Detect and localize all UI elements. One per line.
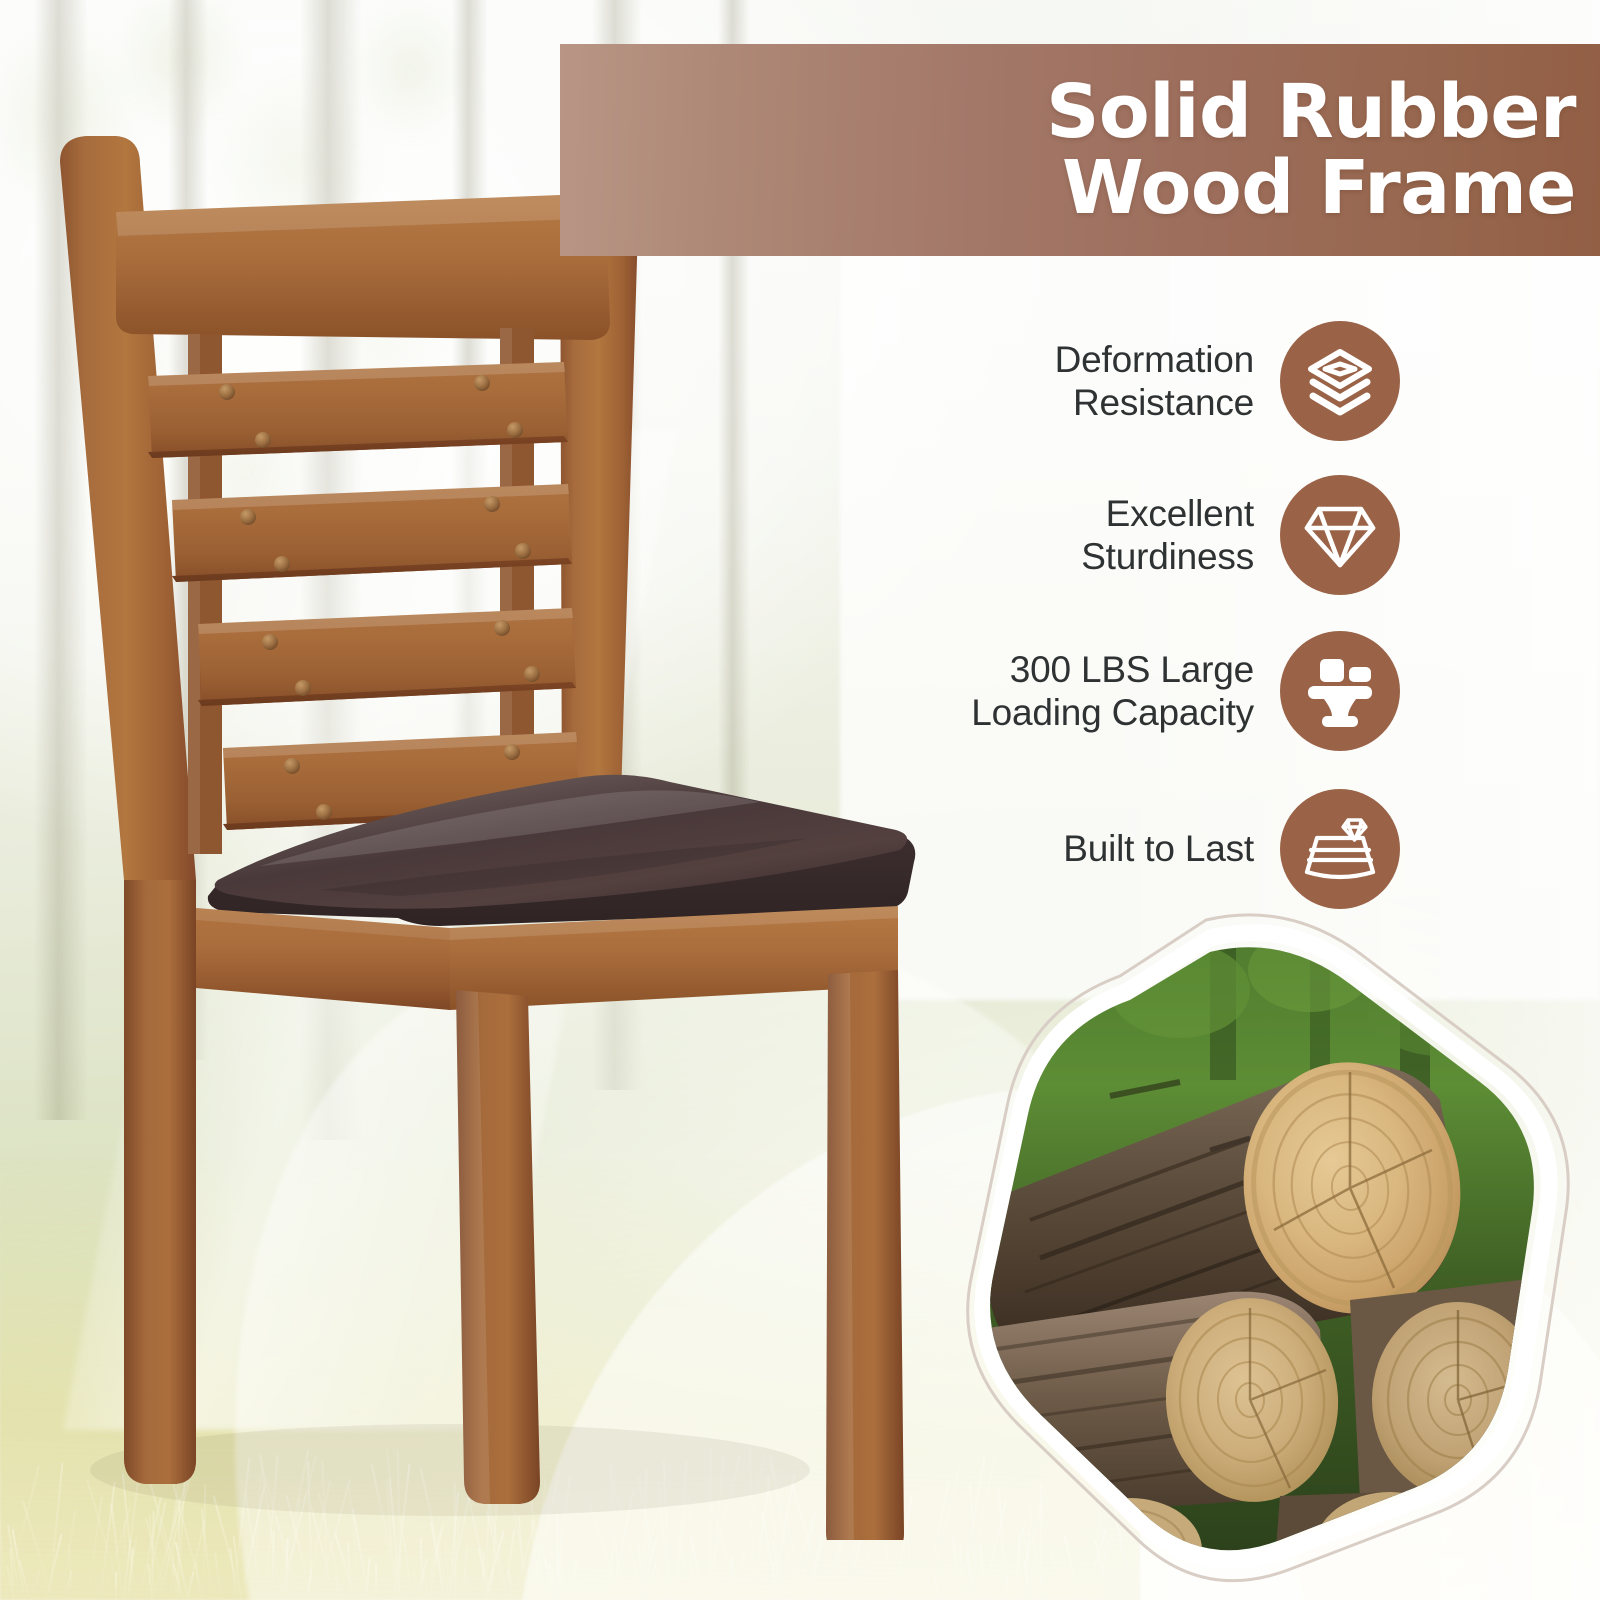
- page-title: Solid Rubber Wood Frame: [1046, 74, 1600, 226]
- chair-rivet: [295, 680, 311, 696]
- grass-blade: [0, 1483, 7, 1600]
- chair-shadow: [90, 1424, 810, 1516]
- chair-rear-leg-left: [124, 880, 196, 1484]
- feature-item-excellent-sturdiness: Excellent Sturdiness: [860, 472, 1400, 598]
- load-weight-icon: [1280, 631, 1400, 751]
- feature-item-deformation-resistance: Deformation Resistance: [860, 318, 1400, 444]
- chair-back-slat: [148, 362, 568, 458]
- material-inset: [880, 900, 1600, 1600]
- grass-blade: [115, 1572, 117, 1600]
- chair-rivet: [240, 509, 256, 525]
- grass-blade: [30, 1570, 40, 1600]
- page-title-line-2: Wood Frame: [1046, 150, 1576, 226]
- chair-rivet: [316, 804, 332, 820]
- feature-item-loading-capacity: 300 LBS Large Loading Capacity: [860, 628, 1400, 754]
- infographic-canvas: Solid Rubber Wood Frame Deformation Resi…: [0, 0, 1600, 1600]
- feature-label: Deformation Resistance: [1055, 338, 1254, 425]
- grass-blade: [214, 1552, 222, 1600]
- chair-rivet: [274, 556, 290, 572]
- chair-rivet: [219, 384, 235, 400]
- chair-rivet: [494, 620, 510, 636]
- chair-rivet: [507, 422, 523, 438]
- feature-label: 300 LBS Large Loading Capacity: [971, 648, 1254, 735]
- chair-rivet: [484, 496, 500, 512]
- feature-label: Built to Last: [1063, 827, 1254, 870]
- feature-label: Excellent Sturdiness: [1081, 492, 1254, 579]
- chair-rivet: [524, 666, 540, 682]
- feature-item-built-to-last: Built to Last: [860, 786, 1400, 912]
- chair-rivet: [504, 744, 520, 760]
- chair-rivet: [262, 634, 278, 650]
- layered-wood-gem-icon: [1280, 789, 1400, 909]
- chair-rivet: [515, 543, 531, 559]
- diamond-gem-icon: [1280, 475, 1400, 595]
- header-banner: Solid Rubber Wood Frame: [560, 44, 1600, 256]
- chair-rivet: [284, 758, 300, 774]
- page-title-line-1: Solid Rubber: [1046, 74, 1576, 150]
- chair-rivet: [474, 375, 490, 391]
- chair-rivet: [255, 432, 271, 448]
- feature-list: Deformation Resistance Excellent Sturdin…: [860, 318, 1400, 912]
- layers-icon: [1280, 321, 1400, 441]
- product-chair-image: [20, 90, 940, 1540]
- chair-leg-highlight: [826, 973, 854, 1540]
